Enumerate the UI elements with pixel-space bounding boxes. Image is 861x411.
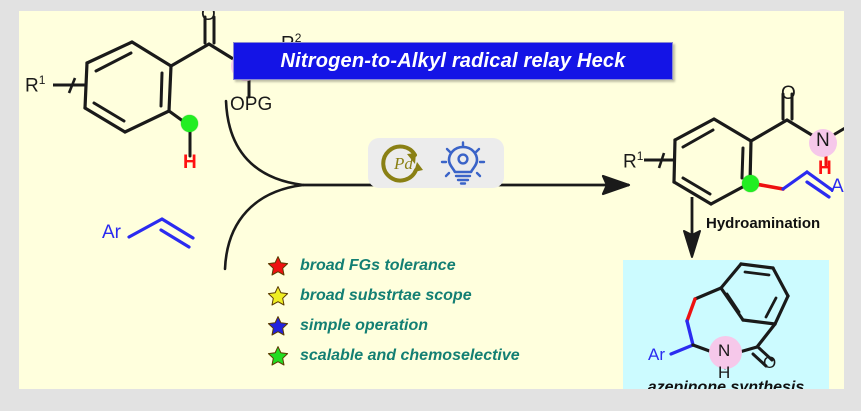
highlight-list: broad FGs tolerance broad substrtae scop… — [267, 254, 520, 367]
highlight-item: broad substrtae scope — [267, 284, 520, 307]
light-bulb-icon — [440, 142, 486, 186]
star-icon — [267, 285, 289, 307]
highlight-label: simple operation — [300, 317, 428, 335]
highlight-item: broad FGs tolerance — [267, 254, 520, 277]
pd-catalyst-label: Pd — [394, 154, 413, 174]
highlight-label: broad substrtae scope — [300, 287, 472, 305]
product-carbon-highlight — [742, 175, 759, 192]
product-carbonyl-oxygen-label: O — [781, 84, 796, 103]
product-r1-text: R — [623, 151, 637, 172]
star-icon — [267, 345, 289, 367]
hydroamination-label: Hydroamination — [706, 215, 820, 232]
substrate-r1-superscript: 1 — [39, 73, 46, 87]
product-nitrogen-label: N — [816, 131, 830, 150]
figure-canvas: R1 O N R2 OPG H Ar — [0, 0, 861, 411]
alkene-ar-label: Ar — [102, 223, 121, 242]
title-banner: Nitrogen-to-Alkyl radical relay Heck — [233, 42, 673, 80]
product-ar-label: Ar — [831, 177, 844, 196]
highlight-item: simple operation — [267, 314, 520, 337]
azepinone-product-box: Ar N H O azepinone synthesis — [623, 260, 829, 389]
star-icon — [267, 255, 289, 277]
product-structure — [617, 89, 844, 229]
azepinone-carbonyl-oxygen-label: O — [763, 354, 776, 371]
substrate-r1-label: R1 — [25, 74, 45, 95]
product-r1-label: R1 — [623, 150, 643, 171]
star-icon — [267, 315, 289, 337]
azepinone-nitrogen-label: N — [718, 342, 730, 359]
azepinone-ar-label: Ar — [648, 346, 665, 363]
azepinone-caption: azepinone synthesis — [623, 379, 829, 389]
title-text: Nitrogen-to-Alkyl radical relay Heck — [280, 50, 625, 73]
substrate-r1-text: R — [25, 75, 39, 96]
highlight-item: scalable and chemoselective — [267, 344, 520, 367]
product-hydrogen-label: H — [818, 159, 832, 178]
substrate-carbonyl-oxygen-label: O — [201, 11, 216, 24]
product-r1-superscript: 1 — [637, 149, 644, 163]
figure-inner-panel: R1 O N R2 OPG H Ar — [19, 11, 844, 389]
highlight-label: scalable and chemoselective — [300, 347, 520, 365]
highlight-label: broad FGs tolerance — [300, 257, 456, 275]
